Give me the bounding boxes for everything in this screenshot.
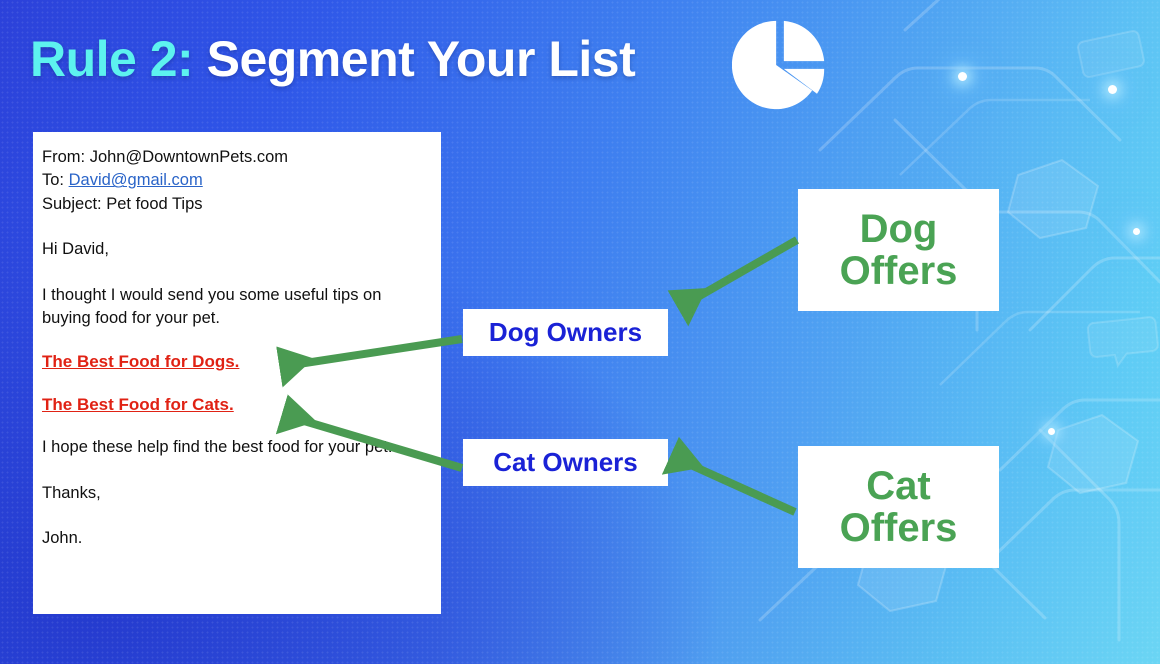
slide-title-main: Segment Your List bbox=[207, 31, 636, 87]
cat-offers-label-line1: Cat bbox=[866, 465, 930, 507]
background-glow-dot bbox=[958, 72, 967, 81]
email-to-address-link[interactable]: David@gmail.com bbox=[69, 171, 203, 189]
background-glow-dot bbox=[1048, 428, 1055, 435]
email-subject-row: Subject: Pet food Tips bbox=[42, 193, 427, 216]
email-subject-label: Subject: bbox=[42, 195, 102, 213]
slide-canvas: Rule 2: Segment Your List From: John@Dow… bbox=[0, 0, 1160, 664]
spacer bbox=[42, 505, 427, 527]
email-closing-paragraph: I hope these help find the best food for… bbox=[42, 436, 420, 459]
cat-owners-label: Cat Owners bbox=[493, 447, 638, 478]
email-preview-card: From: John@DowntownPets.com To: David@gm… bbox=[33, 132, 441, 614]
dog-offers-label-line1: Dog bbox=[860, 208, 938, 250]
email-cat-food-link[interactable]: The Best Food for Cats. bbox=[42, 393, 234, 417]
email-subject-value: Pet food Tips bbox=[106, 195, 202, 213]
cat-owners-label-box[interactable]: Cat Owners bbox=[463, 439, 668, 486]
email-sender-name: John. bbox=[42, 527, 427, 550]
email-dog-food-link[interactable]: The Best Food for Dogs. bbox=[42, 350, 239, 374]
slide-title: Rule 2: Segment Your List bbox=[30, 30, 635, 88]
spacer bbox=[42, 417, 427, 436]
cat-offers-label-box[interactable]: Cat Offers bbox=[798, 446, 999, 568]
email-to-row: To: David@gmail.com bbox=[42, 169, 427, 192]
email-from-row: From: John@DowntownPets.com bbox=[42, 146, 427, 169]
email-to-label: To: bbox=[42, 171, 64, 189]
email-from-value: John@DowntownPets.com bbox=[90, 148, 288, 166]
spacer bbox=[42, 262, 427, 284]
cat-offers-label-line2: Offers bbox=[840, 507, 958, 549]
email-greeting: Hi David, bbox=[42, 238, 427, 261]
dog-owners-label-box[interactable]: Dog Owners bbox=[463, 309, 668, 356]
slide-title-accent: Rule 2: bbox=[30, 31, 193, 87]
spacer bbox=[42, 331, 427, 350]
pie-chart-icon bbox=[732, 17, 828, 113]
dog-offers-label-box[interactable]: Dog Offers bbox=[798, 189, 999, 311]
spacer bbox=[42, 216, 427, 238]
background-glow-dot bbox=[1108, 85, 1117, 94]
dog-offers-label-line2: Offers bbox=[840, 250, 958, 292]
spacer bbox=[42, 460, 427, 482]
dog-owners-label: Dog Owners bbox=[489, 317, 642, 348]
email-intro-paragraph: I thought I would send you some useful t… bbox=[42, 284, 420, 331]
email-from-label: From: bbox=[42, 148, 85, 166]
spacer bbox=[42, 374, 427, 393]
email-signoff: Thanks, bbox=[42, 482, 427, 505]
background-glow-dot bbox=[1133, 228, 1140, 235]
